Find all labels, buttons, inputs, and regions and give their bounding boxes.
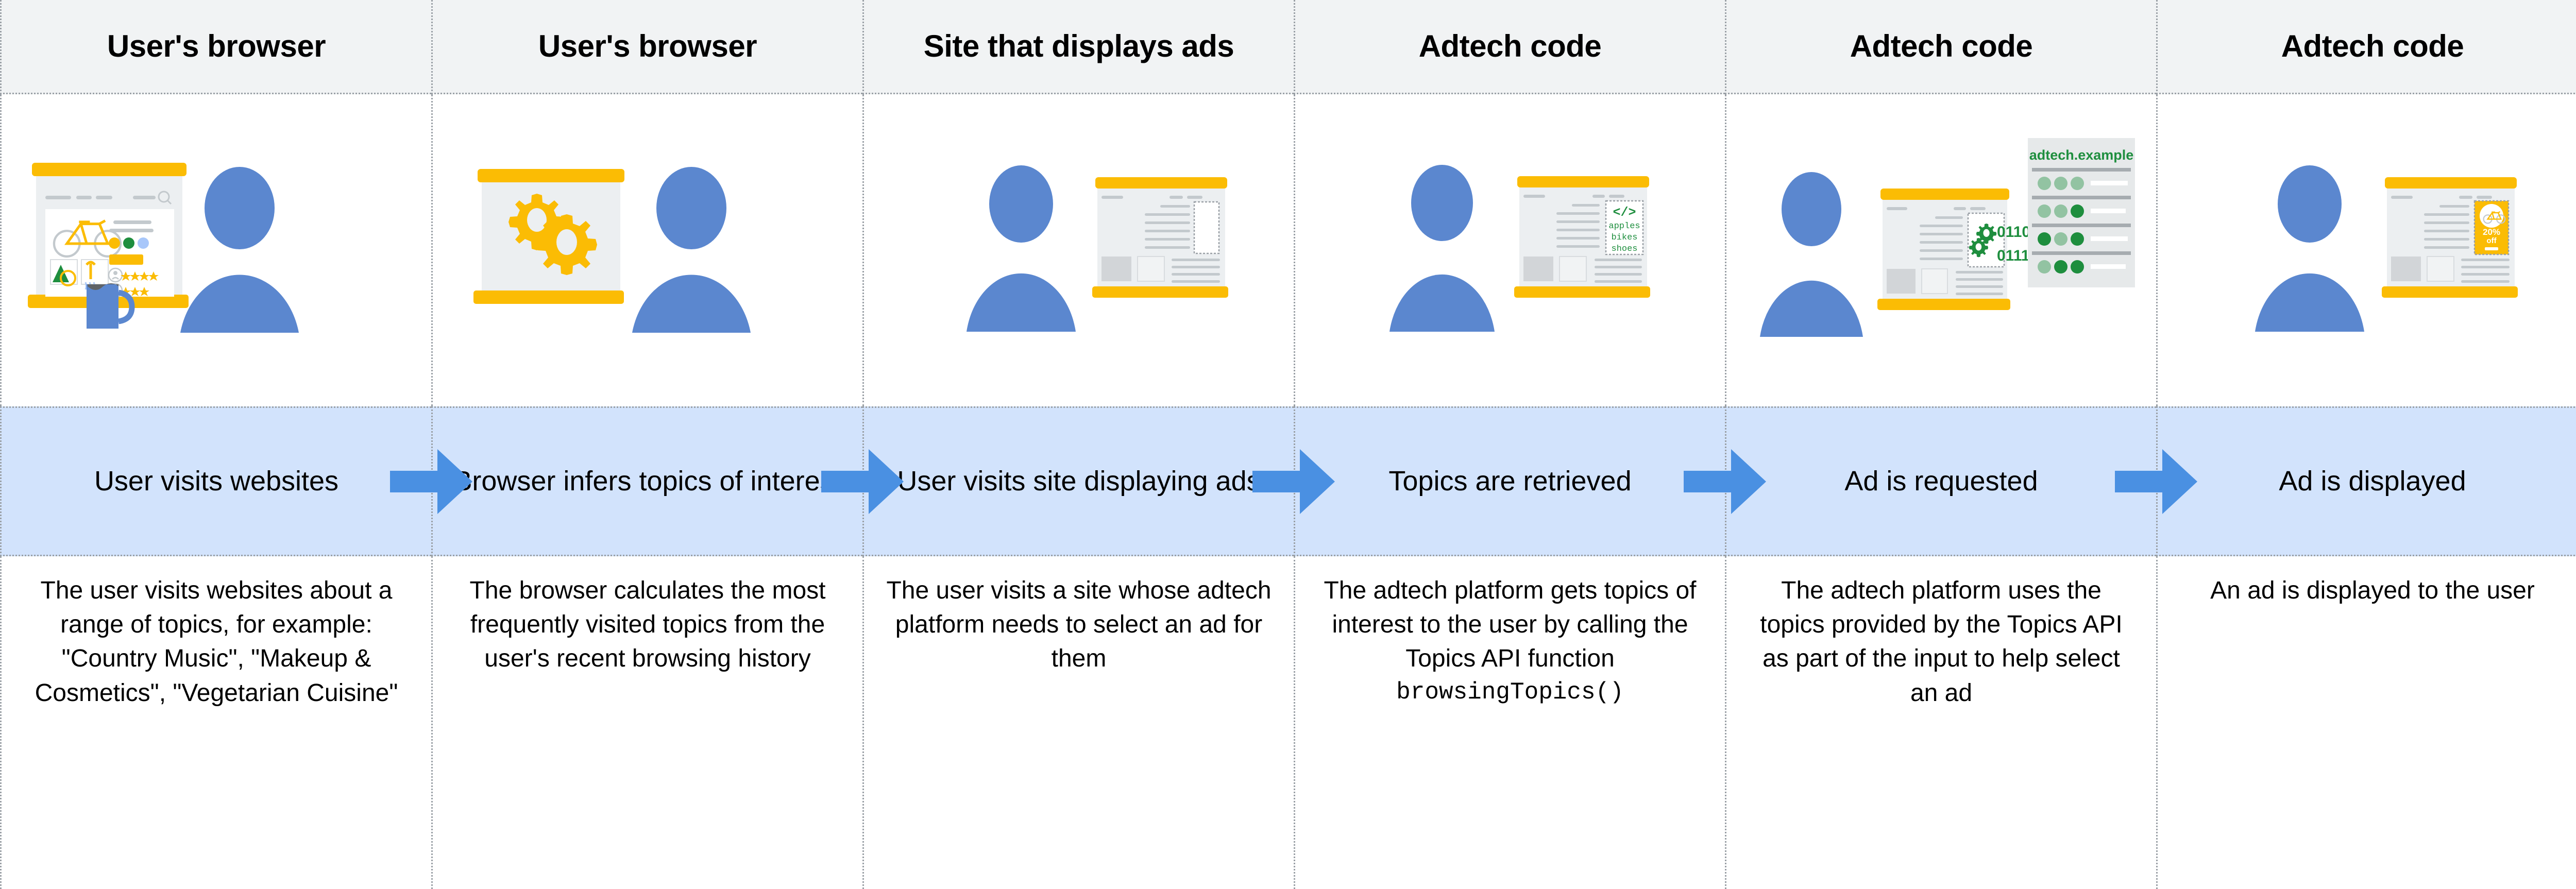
ad-discount-suffix: off xyxy=(2486,236,2497,245)
code-keyword-2: bikes xyxy=(1611,233,1637,243)
column-header-3: Site that displays ads xyxy=(862,0,1294,94)
description-text: The user visits a site whose adtech plat… xyxy=(886,577,1271,672)
column-header-4: Adtech code xyxy=(1294,0,1725,94)
illustration-browser-inferring-topics xyxy=(457,142,838,358)
code-keyword-3: shoes xyxy=(1611,244,1637,254)
step-label: User visits site displaying ads xyxy=(897,463,1260,500)
column-header-label: User's browser xyxy=(538,29,757,63)
step-label: Ad is displayed xyxy=(2279,463,2466,500)
step-label: Browser infers topics of interest xyxy=(453,463,841,500)
description-text: An ad is displayed to the user xyxy=(2210,577,2535,604)
column-header-2: User's browser xyxy=(431,0,862,94)
description-cell-5: The adtech platform uses the topics prov… xyxy=(1725,556,2156,889)
description-text: The browser calculates the most frequent… xyxy=(470,577,826,672)
description-cell-3: The user visits a site whose adtech plat… xyxy=(862,556,1294,889)
illustration-site-with-empty-ad-slot xyxy=(883,142,1275,358)
step-label-cell-2: Browser infers topics of interest xyxy=(431,406,862,556)
illustration-cell-3 xyxy=(862,94,1294,406)
column-header-label: Adtech code xyxy=(1850,29,2033,63)
step-label: Topics are retrieved xyxy=(1388,463,1631,500)
column-header-5: Adtech code xyxy=(1725,0,2156,94)
description-cell-4: The adtech platform gets topics of inter… xyxy=(1294,556,1725,889)
adtech-panel-title: adtech.example xyxy=(2029,147,2134,163)
illustration-ad-requested-adtech-panel: 0110 0111 adtech.example xyxy=(1735,123,2147,365)
illustration-user-browsing-bicycle-site xyxy=(21,142,412,358)
description-cell-2: The browser calculates the most frequent… xyxy=(431,556,862,889)
topics-api-flow-diagram: User's browser User's browser Site that … xyxy=(0,0,2576,889)
illustration-ad-displayed: 20% off xyxy=(2177,142,2568,358)
description-text: The adtech platform gets topics of inter… xyxy=(1324,577,1696,672)
step-label-cell-4: Topics are retrieved xyxy=(1294,406,1725,556)
step-label: User visits websites xyxy=(94,463,338,500)
illustration-cell-6: 20% off xyxy=(2156,94,2576,406)
illustration-cell-4: </> apples bikes shoes xyxy=(1294,94,1725,406)
description-cell-6: An ad is displayed to the user xyxy=(2156,556,2576,889)
illustration-cell-5: 0110 0111 adtech.example xyxy=(1725,94,2156,406)
step-label: Ad is requested xyxy=(1844,463,2038,500)
step-label-cell-1: User visits websites xyxy=(0,406,431,556)
column-header-label: Adtech code xyxy=(1419,29,1602,63)
step-label-cell-5: Ad is requested xyxy=(1725,406,2156,556)
column-header-6: Adtech code xyxy=(2156,0,2576,94)
ad-discount-value: 20% xyxy=(2483,227,2500,237)
description-text: The adtech platform uses the topics prov… xyxy=(1760,577,2123,707)
description-text: The user visits websites about a range o… xyxy=(35,577,398,707)
binary-text-1: 0110 xyxy=(1997,224,2030,241)
column-header-label: Adtech code xyxy=(2281,29,2464,63)
description-cell-1: The user visits websites about a range o… xyxy=(0,556,431,889)
step-label-cell-6: Ad is displayed xyxy=(2156,406,2576,556)
illustration-cell-1 xyxy=(0,94,431,406)
binary-text-2: 0111 xyxy=(1997,247,2029,264)
code-keyword-1: apples xyxy=(1608,221,1640,231)
code-tag-glyph: </> xyxy=(1613,205,1636,220)
illustration-topics-retrieved-code: </> apples bikes shoes xyxy=(1314,142,1706,358)
column-header-1: User's browser xyxy=(0,0,431,94)
column-header-label: User's browser xyxy=(107,29,326,63)
column-header-label: Site that displays ads xyxy=(924,29,1234,63)
illustration-cell-2 xyxy=(431,94,862,406)
step-label-cell-3: User visits site displaying ads xyxy=(862,406,1294,556)
description-code: browsingTopics() xyxy=(1315,676,1705,709)
